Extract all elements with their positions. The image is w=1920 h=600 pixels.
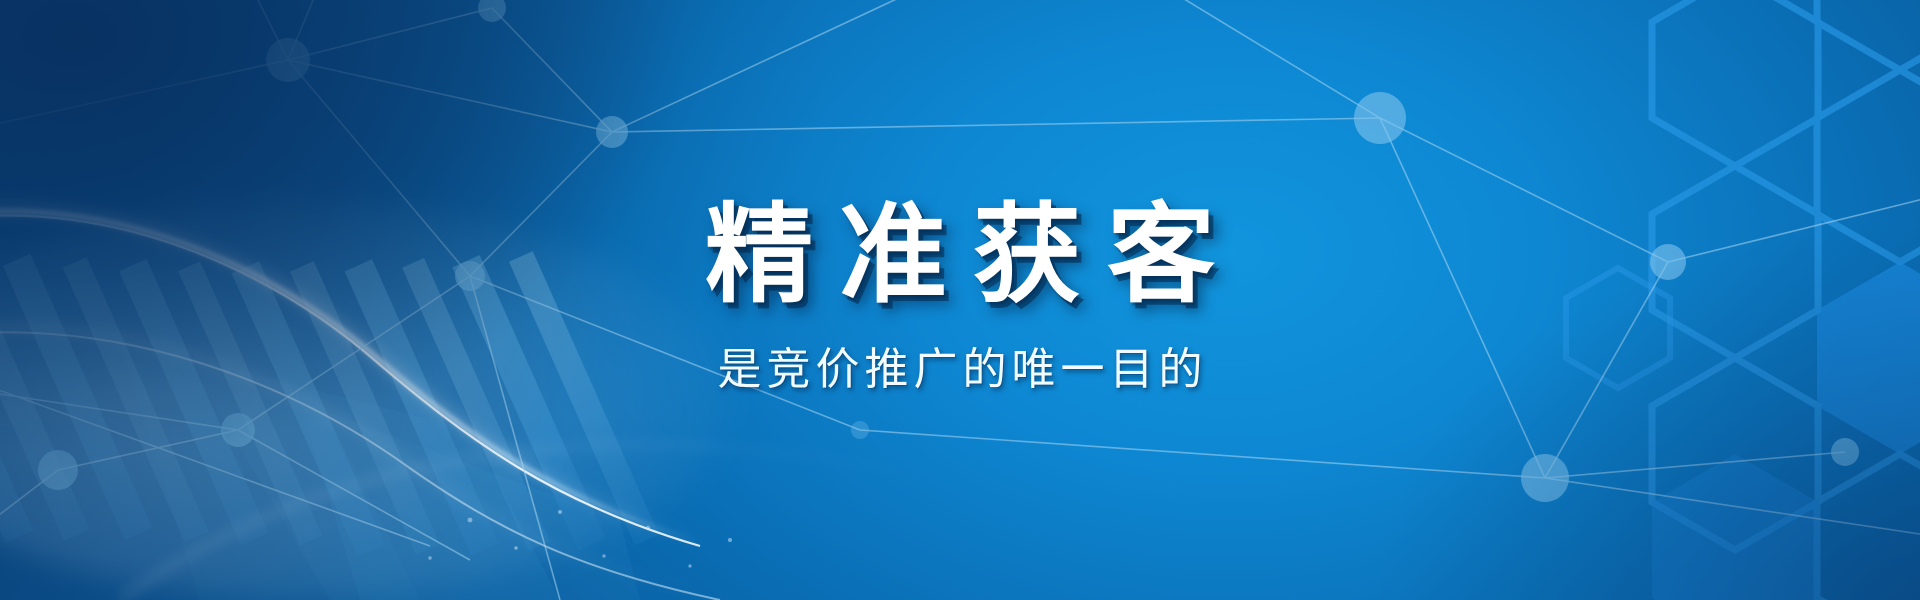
banner-title: 精准获客 xyxy=(679,199,1241,311)
hero-banner: 精准获客 是竞价推广的唯一目的 xyxy=(0,0,1920,600)
banner-text-block: 精准获客 是竞价推广的唯一目的 xyxy=(0,0,1920,600)
banner-subtitle: 是竞价推广的唯一目的 xyxy=(713,344,1208,397)
